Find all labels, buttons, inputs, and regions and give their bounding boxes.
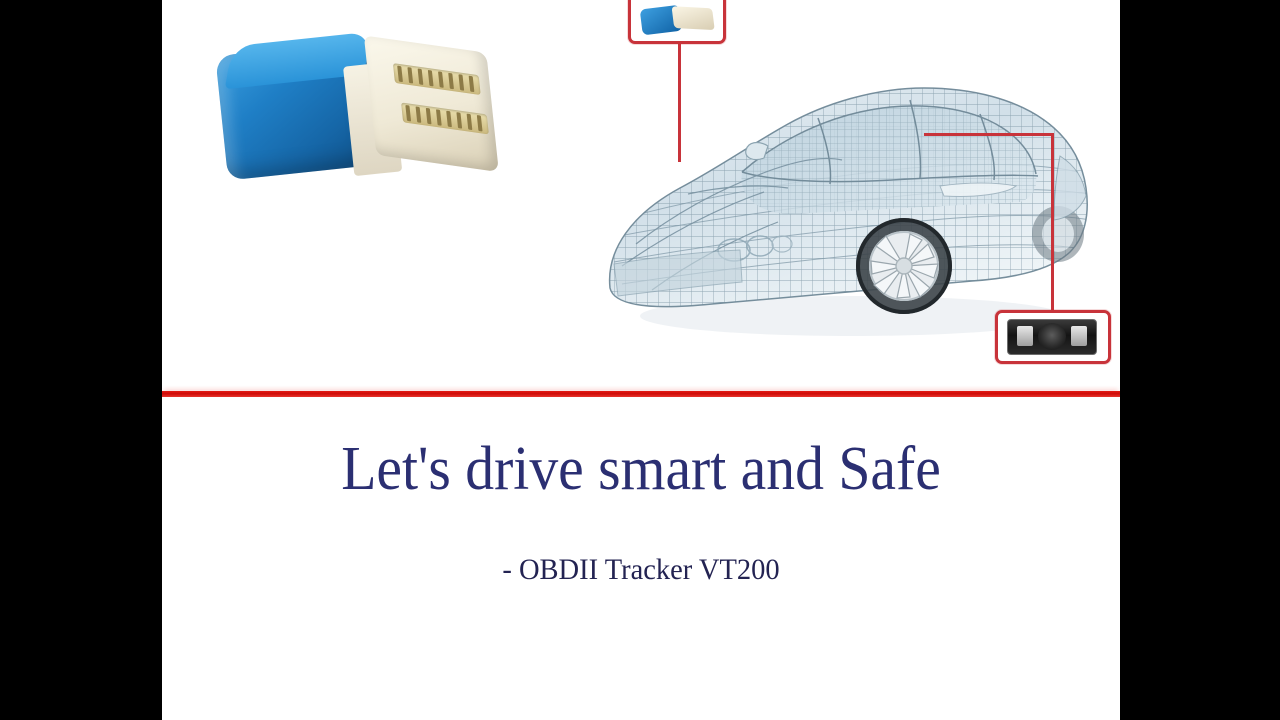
leader-line-port-vertical [1051,133,1054,313]
leader-line-port-horizontal [924,133,1054,136]
letterbox-bar-left [0,0,162,720]
dongle-connector-plug [364,35,499,172]
letterbox-bar-right [1120,0,1280,720]
callout-obd-port-thumbnail [1007,319,1097,355]
front-wheel [856,218,952,314]
callout-obd-port-box [995,310,1111,364]
slide-canvas: Let's drive smart and Safe - OBDII Track… [162,0,1120,720]
obd-ii-dongle-image [214,13,530,213]
mini-dongle-plug [672,6,715,30]
slide-stage: Let's drive smart and Safe - OBDII Track… [0,0,1280,720]
socket-right-contact [1071,326,1087,346]
red-divider-line [162,391,1120,397]
leader-line-dongle-vertical [678,38,681,162]
slide-headline: Let's drive smart and Safe [196,438,1087,500]
slide-subline: - OBDII Tracker VT200 [186,553,1096,587]
callout-dongle-box [628,0,726,44]
socket-left-contact [1017,326,1033,346]
callout-dongle-thumbnail [639,0,716,37]
socket-center-hub [1038,323,1066,350]
